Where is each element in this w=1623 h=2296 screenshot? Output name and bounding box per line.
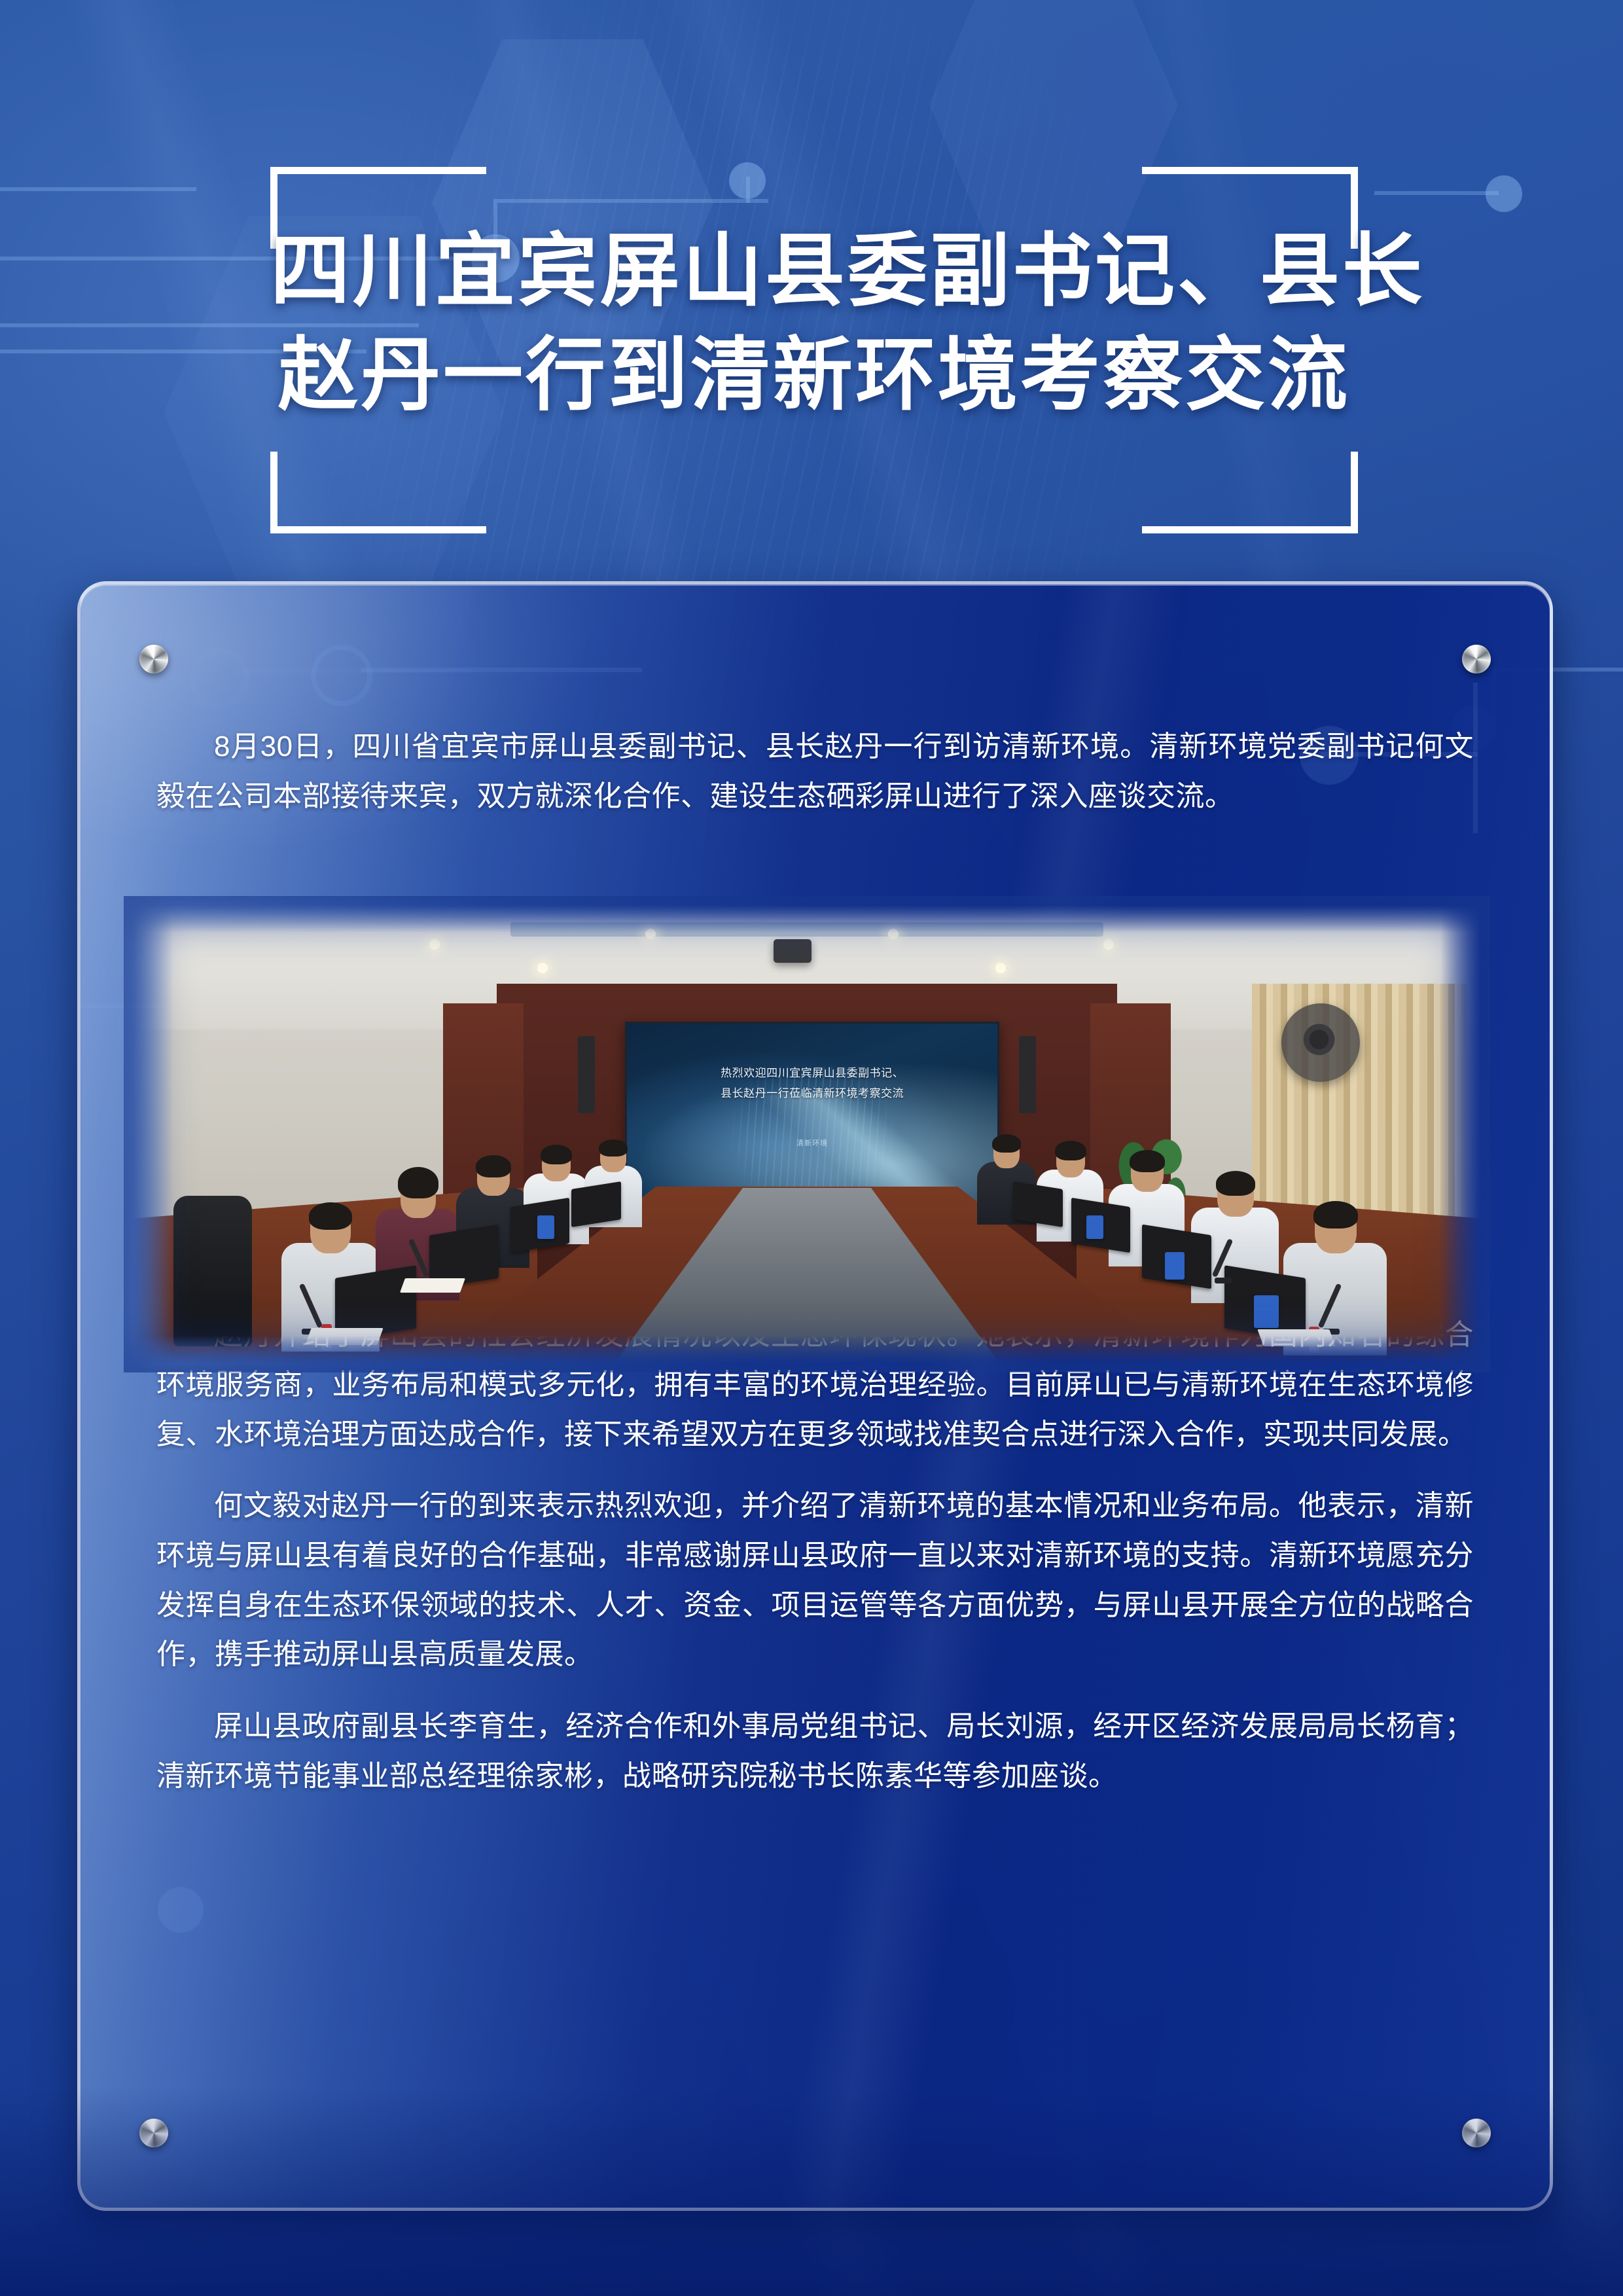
photo-blue-box [1165, 1252, 1185, 1280]
background-circuit-trace [1374, 191, 1499, 195]
title-bracket-bottom-right-horizontal [1142, 526, 1358, 533]
poster-root: 四川宜宾屏山县委副书记、县长 赵丹一行到清新环境考察交流 8月30日，四川省宜宾… [0, 0, 1623, 2296]
page-title-line-1: 四川宜宾屏山县委副书记、县长 [270, 219, 1358, 323]
title-bracket-top-left-horizontal [270, 167, 486, 174]
photo-wall-fan [1281, 1003, 1360, 1082]
photo-screen-text-line-1: 热烈欢迎四川宜宾屏山县委副书记、 [649, 1063, 976, 1083]
photo-ceiling-vent [510, 922, 1103, 937]
photo-laptop [571, 1181, 621, 1227]
article-paragraph-1: 8月30日，四川省宜宾市屏山县委副书记、县长赵丹一行到访清新环境。清新环境党委副… [156, 722, 1474, 821]
photo-ceiling-light [888, 929, 899, 939]
photo-document-paper [400, 1278, 465, 1293]
photo-attendee-hair [398, 1167, 438, 1198]
photo-attendee-hair [1313, 1201, 1358, 1229]
card-screw-top-right [1462, 645, 1491, 673]
card-screw-bottom-left [139, 2119, 168, 2147]
photo-blue-box [1086, 1215, 1103, 1239]
photo-screen-welcome-text: 热烈欢迎四川宜宾屏山县委副书记、 县长赵丹一行莅临清新环境考察交流 [649, 1063, 976, 1104]
photo-attendee-hair [541, 1145, 572, 1164]
photo-ceiling-light [645, 929, 656, 939]
photo-blue-box [1254, 1295, 1279, 1328]
photo-document-paper [1258, 1329, 1336, 1346]
title-block: 四川宜宾屏山县委副书记、县长 赵丹一行到清新环境考察交流 [270, 167, 1358, 533]
meeting-photo-container: 热烈欢迎四川宜宾屏山县委副书记、 县长赵丹一行莅临清新环境考察交流 清新环境 [133, 905, 1481, 1363]
card-circuit-line [361, 668, 642, 672]
title-bracket-bottom-right-vertical [1351, 452, 1358, 533]
background-circuit-node [1486, 175, 1522, 212]
photo-attendee-hair [1055, 1141, 1086, 1160]
card-circuit-ring [311, 645, 372, 706]
title-bracket-bottom-left-vertical [270, 452, 277, 533]
photo-attendee-hair [599, 1139, 628, 1157]
page-title: 四川宜宾屏山县委副书记、县长 赵丹一行到清新环境考察交流 [270, 219, 1358, 427]
photo-projector [774, 939, 811, 963]
photo-document-paper [305, 1328, 383, 1345]
meeting-photo: 热烈欢迎四川宜宾屏山县委副书记、 县长赵丹一行莅临清新环境考察交流 清新环境 [133, 905, 1481, 1363]
photo-attendee-hair [992, 1134, 1021, 1153]
card-screw-bottom-right [1462, 2119, 1491, 2147]
title-bracket-bottom-left-horizontal [270, 526, 486, 533]
photo-speaker-right [1019, 1036, 1036, 1113]
background-circuit-trace [0, 187, 196, 191]
article-paragraph-3: 何文毅对赵丹一行的到来表示热烈欢迎，并介绍了清新环境的基本情况和业务布局。他表示… [156, 1481, 1474, 1679]
photo-speaker-left [578, 1036, 595, 1113]
title-bracket-top-right-horizontal [1142, 167, 1358, 174]
photo-blue-box [537, 1215, 554, 1239]
content-card: 8月30日，四川省宜宾市屏山县委副书记、县长赵丹一行到访清新环境。清新环境党委副… [77, 581, 1553, 2211]
article-paragraph-4: 屏山县政府副县长李育生，经济合作和外事局党组书记、局长刘源，经开区经济发展局局长… [156, 1702, 1474, 1801]
photo-attendee-hair [476, 1155, 511, 1177]
card-screw-top-left [139, 645, 168, 673]
photo-attendee-hair [1216, 1171, 1255, 1196]
card-circuit-dot [158, 1887, 204, 1933]
photo-laptop [1013, 1181, 1063, 1227]
photo-attendee-hair [309, 1202, 352, 1230]
photo-office-chair [173, 1196, 252, 1346]
photo-ceiling-light [537, 963, 548, 973]
photo-attendee-hair [1130, 1150, 1165, 1172]
photo-screen-subtitle: 清新环境 [627, 1138, 998, 1148]
page-title-line-2: 赵丹一行到清新环境考察交流 [270, 323, 1358, 427]
photo-microphone-base [1215, 1278, 1232, 1283]
photo-screen-text-line-2: 县长赵丹一行莅临清新环境考察交流 [649, 1083, 976, 1103]
card-circuit-line [1473, 683, 1478, 833]
